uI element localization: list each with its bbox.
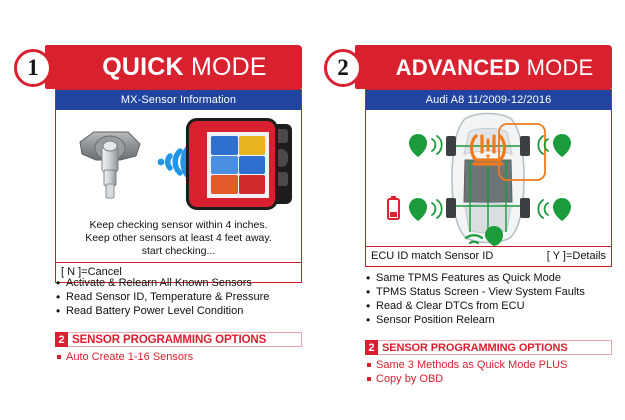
options-title: SENSOR PROGRAMMING OPTIONS xyxy=(68,332,302,347)
list-item: Copy by OBD xyxy=(367,372,617,386)
tpms-mode-comparison-graphic: QUICK MODE 1 MX-Sensor Information xyxy=(0,0,625,420)
panel-quick-mode: QUICK MODE 1 MX-Sensor Information xyxy=(12,45,302,375)
advanced-mode-title: ADVANCED MODE xyxy=(396,55,594,80)
tool-lcd-screen xyxy=(207,132,269,198)
list-item: Read & Clear DTCs from ECU xyxy=(365,300,612,314)
sensor-programming-options-header-quick: 2 SENSOR PROGRAMMING OPTIONS xyxy=(55,332,302,347)
screen-title-quick: MX-Sensor Information xyxy=(56,90,301,110)
list-item: TPMS Status Screen - View System Faults xyxy=(365,286,612,300)
list-item: Sensor Position Relearn xyxy=(365,314,612,328)
tpms-sensor-icon xyxy=(74,126,146,204)
screen-instruction-line-1: Keep checking sensor within 4 inches. xyxy=(56,219,301,232)
list-item: Read Sensor ID, Temperature & Pressure xyxy=(55,291,302,305)
options-step-number: 2 xyxy=(55,332,68,347)
advanced-mode-option-list: Same 3 Methods as Quick Mode PLUS Copy b… xyxy=(367,358,617,386)
list-item: Auto Create 1-16 Sensors xyxy=(57,350,307,364)
footer-details-hint: [ Y ]=Details xyxy=(547,250,606,262)
options-step-number: 2 xyxy=(365,340,378,355)
quick-mode-banner: QUICK MODE xyxy=(45,45,302,89)
screen-footer-advanced: ECU ID match Sensor ID [ Y ]=Details xyxy=(366,246,611,266)
car-tpms-status-diagram xyxy=(366,110,611,246)
quick-mode-title-light: MODE xyxy=(184,53,267,81)
tool-body xyxy=(186,118,278,210)
quick-mode-option-list: Auto Create 1-16 Sensors xyxy=(57,350,307,364)
step-badge-2: 2 xyxy=(324,49,362,87)
list-item: Read Battery Power Level Condition xyxy=(55,305,302,319)
footer-ecu-match-text: ECU ID match Sensor ID xyxy=(371,250,493,262)
quick-mode-feature-list: Activate & Relearn All Known Sensors Rea… xyxy=(55,277,302,319)
advanced-mode-device-screen: Audi A8 11/2009-12/2016 xyxy=(365,89,612,267)
list-item: Activate & Relearn All Known Sensors xyxy=(55,277,302,291)
options-title: SENSOR PROGRAMMING OPTIONS xyxy=(378,340,612,355)
advanced-mode-feature-list: Same TPMS Features as Quick Mode TPMS St… xyxy=(365,272,612,328)
battery-low-icon xyxy=(388,196,399,219)
quick-mode-device-screen: MX-Sensor Information xyxy=(55,89,302,283)
car-body xyxy=(446,114,530,243)
screen-body-quick: Keep checking sensor within 4 inches.Kee… xyxy=(56,110,301,262)
advanced-mode-title-light: MODE xyxy=(520,55,593,80)
tpms-tool-icon xyxy=(186,118,292,210)
sensor-programming-options-header-advanced: 2 SENSOR PROGRAMMING OPTIONS xyxy=(365,340,612,355)
screen-instruction-line-3: start checking... xyxy=(56,245,301,258)
screen-body-advanced xyxy=(366,110,611,246)
advanced-mode-title-bold: ADVANCED xyxy=(396,55,521,80)
screen-title-advanced: Audi A8 11/2009-12/2016 xyxy=(366,90,611,110)
list-item: Same TPMS Features as Quick Mode xyxy=(365,272,612,286)
screen-instruction-line-2: Keep other sensors at least 4 feet away. xyxy=(56,232,301,245)
panel-advanced-mode: ADVANCED MODE 2 Audi A8 11/2009-12/2016 xyxy=(322,45,612,375)
list-item: Same 3 Methods as Quick Mode PLUS xyxy=(367,358,617,372)
step-badge-1: 1 xyxy=(14,49,52,87)
quick-mode-title: QUICK MODE xyxy=(102,55,267,80)
quick-mode-title-bold: QUICK xyxy=(102,53,184,81)
advanced-mode-banner: ADVANCED MODE xyxy=(355,45,612,89)
screen-instruction-text: Keep checking sensor within 4 inches.Kee… xyxy=(56,219,301,258)
